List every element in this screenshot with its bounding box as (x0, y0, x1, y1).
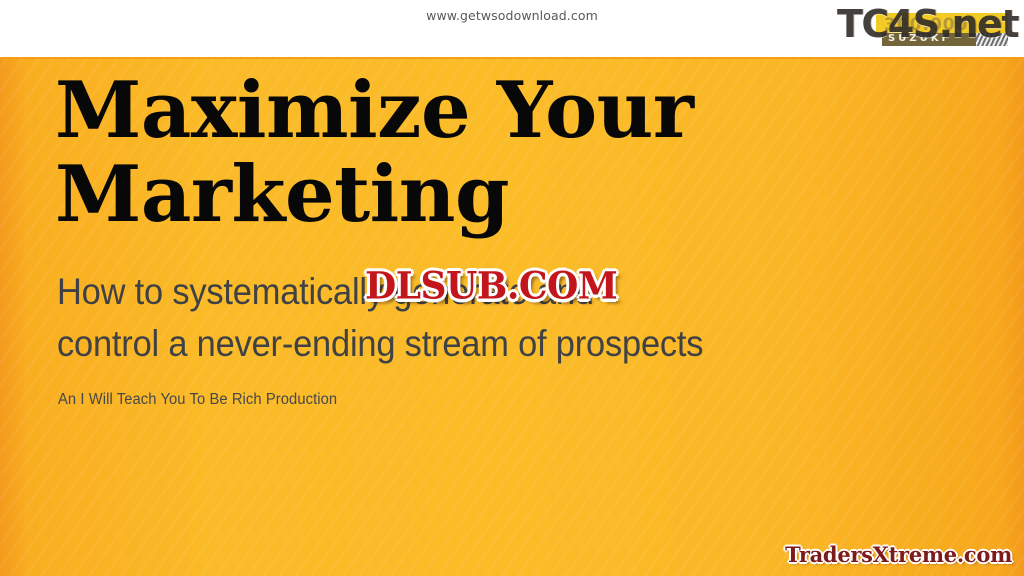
page-title: Maximize Your Marketing (55, 69, 935, 237)
tc4s-logo: 300.000 SUZUKI TC4S.net (828, 1, 1018, 55)
subtitle-line-2: control a never-ending stream of prospec… (57, 318, 875, 370)
watermark-dlsub: DLSUB.COM (365, 263, 617, 309)
production-credit: An I Will Teach You To Be Rich Productio… (58, 390, 337, 410)
watermark-tradersxtreme: TradersXtreme.com (785, 542, 1012, 568)
background-top-hairline (0, 57, 1024, 59)
title-line-1: Maximize Your (55, 69, 935, 153)
presentation-slide: Maximize Your Marketing How to systemati… (0, 0, 1024, 576)
title-line-2: Marketing (55, 153, 935, 237)
tc4s-wordmark: TC4S.net (828, 1, 1018, 49)
